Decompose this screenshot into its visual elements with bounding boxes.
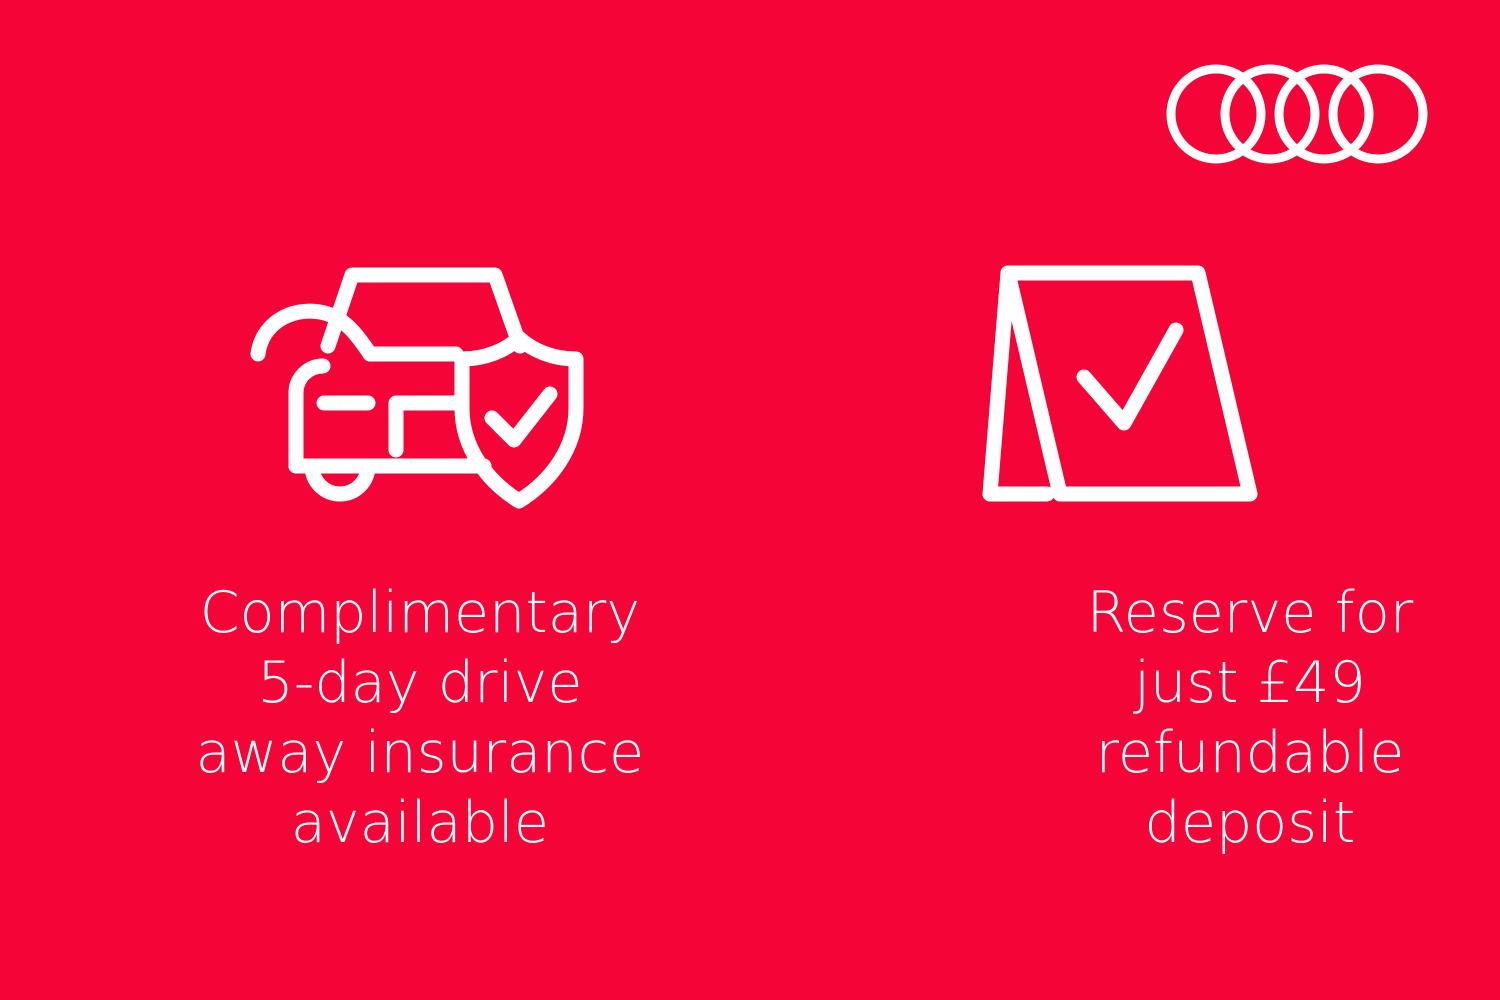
feature-columns: Complimentary 5-day drive away insurance… xyxy=(0,0,1500,1000)
feature-column-insurance: Complimentary 5-day drive away insurance… xyxy=(0,0,750,1000)
feature-caption-reserve: Reserve for just £49 refundable deposit xyxy=(945,578,1500,858)
car-shield-insurance-icon xyxy=(248,258,592,510)
car-bonnet-curve xyxy=(258,311,370,354)
promo-banner: Complimentary 5-day drive away insurance… xyxy=(0,0,1500,1000)
tent-card-check-reserve-icon xyxy=(950,258,1290,510)
feature-column-reserve: Reserve for just £49 refundable deposit xyxy=(750,0,1500,1000)
car-body-outline xyxy=(296,366,360,466)
car-door-detail xyxy=(396,403,455,450)
shield-checkmark xyxy=(492,394,550,440)
tent-card-front-panel xyxy=(1008,273,1250,494)
tent-card-checkmark xyxy=(1084,330,1176,423)
feature-caption-insurance: Complimentary 5-day drive away insurance… xyxy=(110,578,730,858)
shield-body xyxy=(462,338,576,501)
